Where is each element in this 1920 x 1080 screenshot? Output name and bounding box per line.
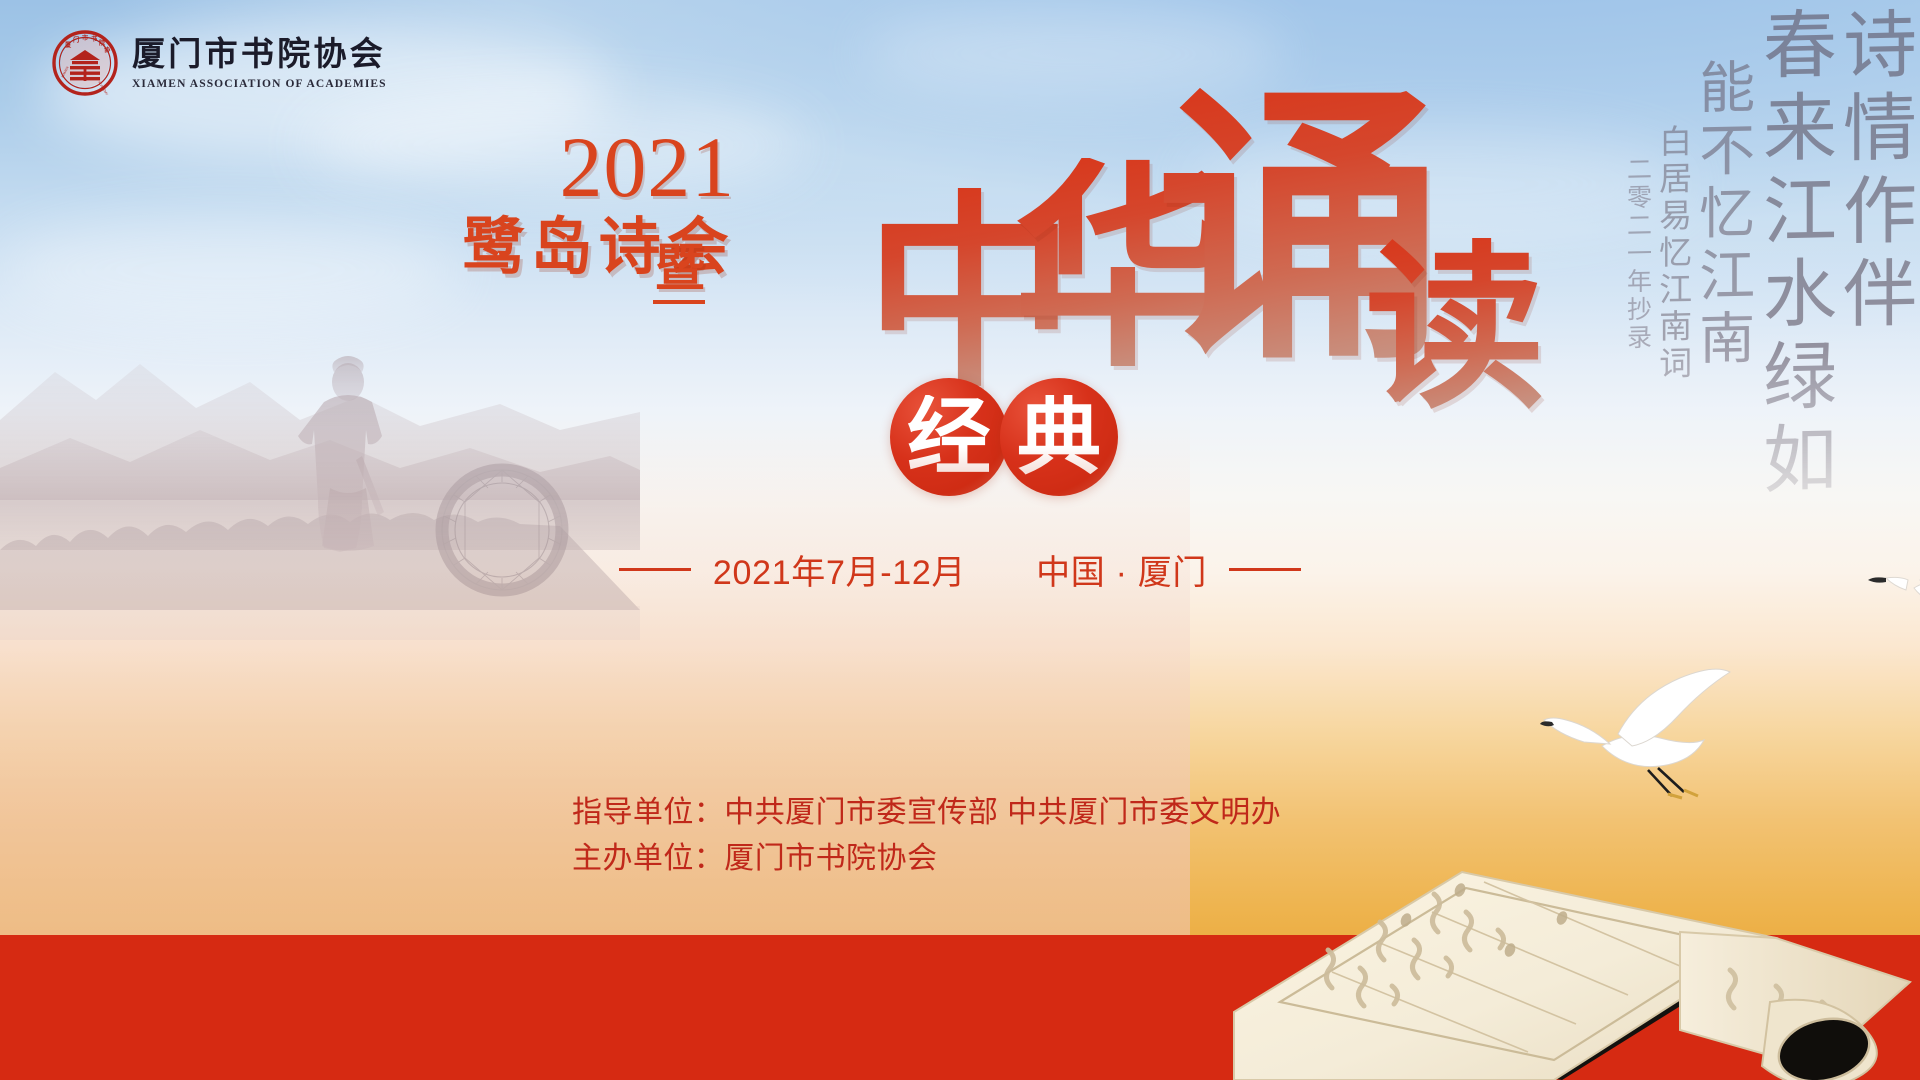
svg-text:门: 门: [73, 36, 79, 44]
egret-landing-icon: [1540, 660, 1750, 810]
hero-char-4: 读: [1365, 238, 1545, 418]
logo-text-block: 厦门市书院协会 XIAMEN ASSOCIATION OF ACADEMIES: [132, 36, 387, 89]
hosting-unit-line: 主办单位：厦门市书院协会: [572, 836, 1281, 882]
egret-flying-icon: [1860, 530, 1920, 640]
organizers-block: 指导单位：中共厦门市委宣传部 中共厦门市委文明办 主办单位：厦门市书院协会: [572, 790, 1281, 881]
association-name-en: XIAMEN ASSOCIATION OF ACADEMIES: [132, 78, 387, 90]
dateline-rule-left: [619, 568, 691, 571]
association-name-cn: 厦门市书院协会: [132, 36, 387, 72]
badge-circle-jing: 经: [890, 378, 1008, 496]
association-logo: 厦门市 书院协 XIAMEN ACADEMY 厦门市书院协会 XIAMEN AS…: [52, 30, 387, 96]
dateline-row: 2021年7月-12月 中国 · 厦门: [0, 545, 1920, 594]
svg-text:书: 书: [91, 35, 98, 43]
svg-text:协: 协: [104, 46, 111, 54]
svg-text:市: 市: [82, 34, 89, 42]
event-date: 2021年7月-12月: [713, 545, 966, 594]
seal-stamp-icon: 厦门市 书院协 XIAMEN ACADEMY: [52, 30, 118, 96]
poster-canvas: 诗情作伴 春来江水绿如 能不忆江南 白居易忆江南词 二零二一年抄录: [0, 0, 1920, 1080]
badge-label: 典: [1017, 395, 1101, 479]
badge-label: 经: [907, 395, 991, 479]
event-year: 2021: [405, 128, 735, 207]
event-location: 中国 · 厦门: [1036, 545, 1207, 594]
guiding-unit-line: 指导单位：中共厦门市委宣传部 中共厦门市委文明办: [572, 790, 1281, 836]
conjunction-underline: [653, 300, 705, 304]
conjunction-character: 暨: [655, 243, 705, 293]
svg-text:院: 院: [99, 39, 106, 47]
svg-text:厦: 厦: [64, 41, 72, 49]
badge-circle-dian: 典: [1000, 378, 1118, 496]
dateline-rule-right: [1229, 568, 1301, 571]
